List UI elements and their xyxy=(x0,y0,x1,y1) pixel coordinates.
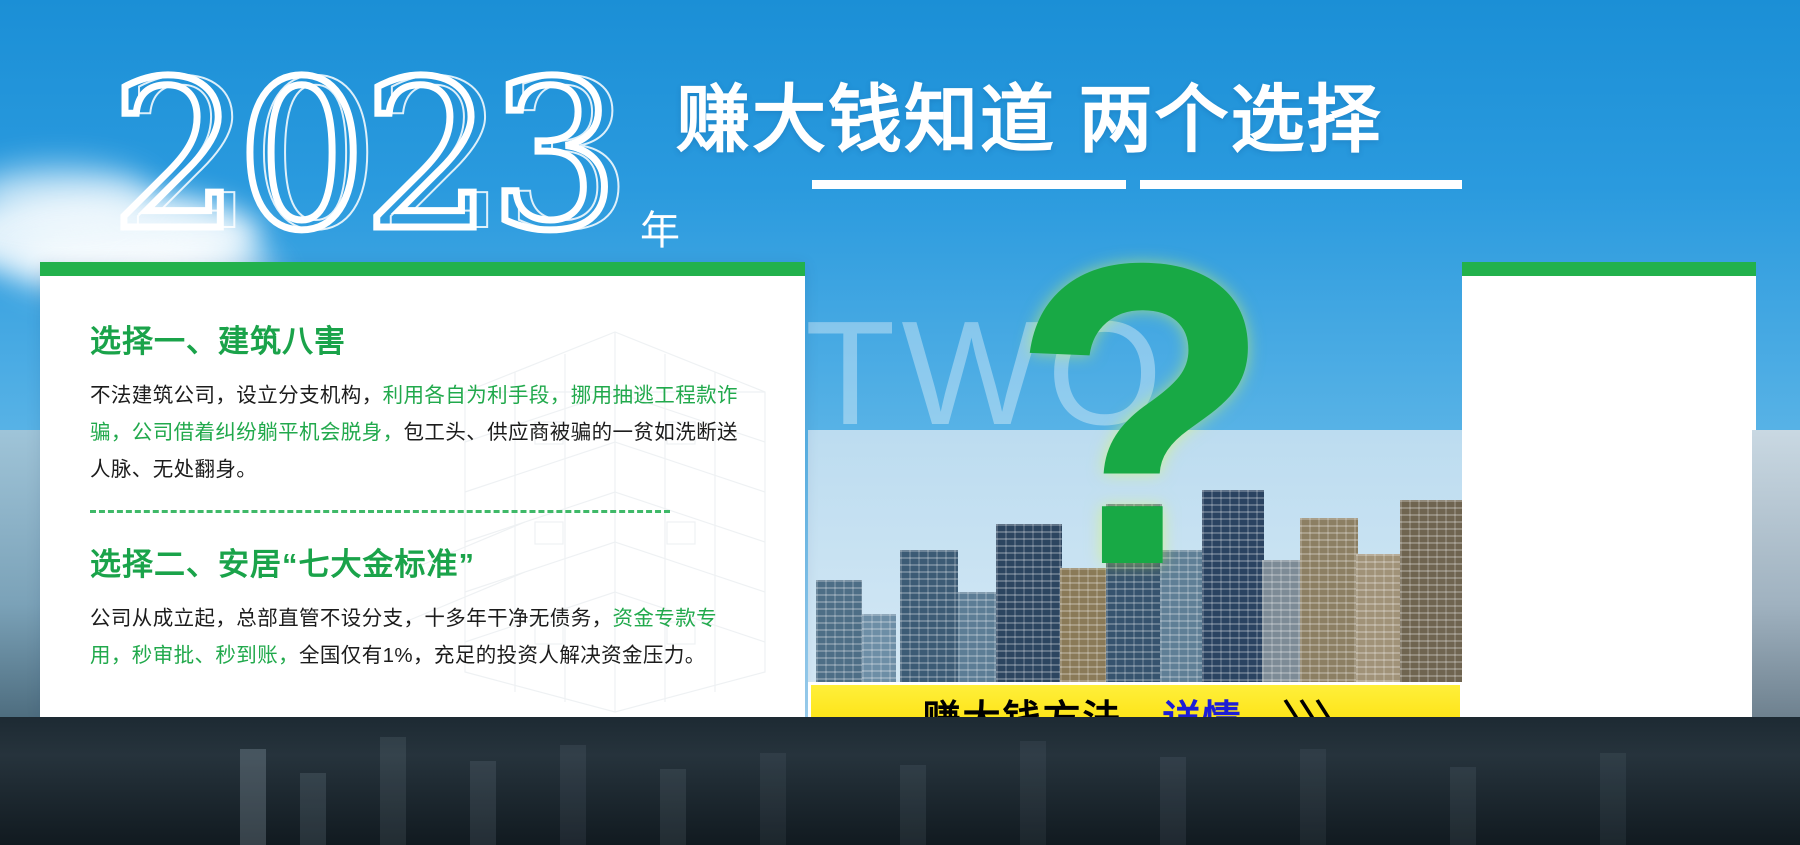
reflection-streak xyxy=(300,773,326,845)
year-outline-shadow: 2023 xyxy=(124,55,630,260)
reflection-streak xyxy=(560,745,586,845)
poster-canvas: 2023 2023 年 赚大钱知道 两个选择 TWO CHOICES ? xyxy=(0,0,1800,845)
reflection-streak xyxy=(760,753,786,845)
page-title: 赚大钱知道 两个选择 xyxy=(676,78,1383,162)
reflection-streak xyxy=(660,769,686,845)
bottom-reflection-band xyxy=(0,717,1800,845)
building-shape xyxy=(1300,518,1358,700)
section-divider xyxy=(90,510,670,513)
right-photo-edge xyxy=(1752,430,1800,720)
reflection-streak xyxy=(1160,757,1186,845)
section-1-body: 不法建筑公司，设立分支机构，利用各自为利手段，挪用抽逃工程款诈骗，公司借着纠纷躺… xyxy=(90,377,757,488)
section-2-body: 公司从成立起，总部直管不设分支，十多年干净无债务，资金专款专用，秒审批、秒到账，… xyxy=(90,600,757,674)
reflection-streak xyxy=(470,761,496,845)
section-1-text-black-a: 不法建筑公司，设立分支机构， xyxy=(90,384,383,407)
reflection-streak xyxy=(1020,741,1046,845)
question-mark-icon: ? xyxy=(1010,200,1273,630)
right-strip-body xyxy=(1462,276,1756,717)
section-2-title: 选择二、安居“七大金标准” xyxy=(90,539,757,584)
reflection-streak xyxy=(1450,767,1476,845)
reflection-streak xyxy=(900,765,926,845)
content-card: 选择一、建筑八害 不法建筑公司，设立分支机构，利用各自为利手段，挪用抽逃工程款诈… xyxy=(40,262,805,717)
reflection-streak xyxy=(1300,749,1326,845)
section-2-text-black-b: 全国仅有1%，充足的投资人解决资金压力。 xyxy=(299,644,706,667)
reflection-streak xyxy=(380,737,406,845)
year-suffix-label: 年 xyxy=(640,198,681,256)
right-strip-topbar xyxy=(1462,262,1756,276)
reflection-streak xyxy=(1600,753,1626,845)
section-2-text-black-a: 公司从成立起，总部直管不设分支，十多年干净无债务， xyxy=(90,607,613,630)
section-1-title: 选择一、建筑八害 xyxy=(90,316,757,361)
building-shape xyxy=(1356,554,1402,700)
building-shape xyxy=(1400,500,1463,700)
reflection-streak xyxy=(240,749,266,845)
building-shape xyxy=(900,550,958,700)
